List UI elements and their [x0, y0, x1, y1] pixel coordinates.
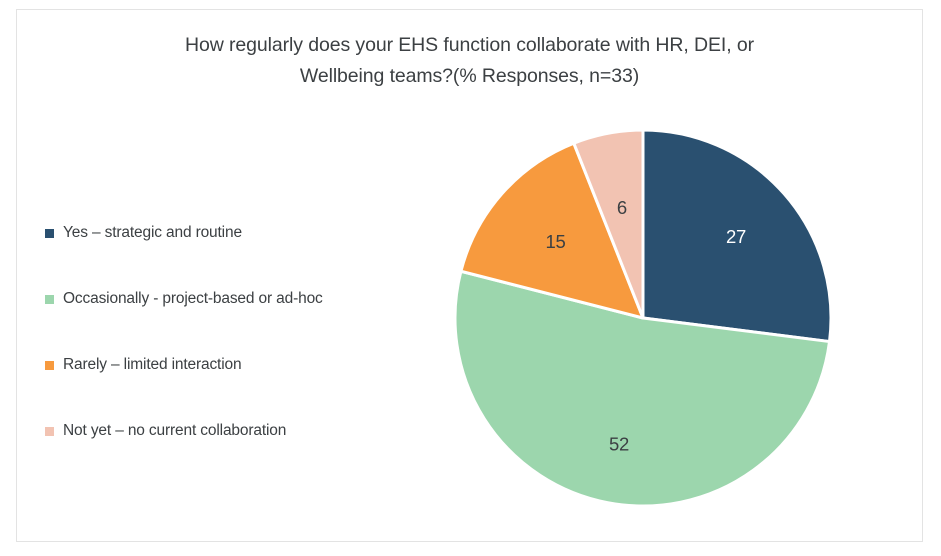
legend-label-2: Rarely – limited interaction	[63, 356, 241, 374]
pie-data-label-2: 15	[545, 231, 565, 252]
legend-label-1: Occasionally - project-based or ad-hoc	[63, 290, 323, 308]
pie-slices	[455, 130, 831, 506]
chart-container: How regularly does your EHS function col…	[16, 9, 923, 542]
legend-item-occasionally-project-based-or-ad-hoc[interactable]: Occasionally - project-based or ad-hoc	[45, 266, 405, 332]
chart-legend: Yes – strategic and routine Occasionally…	[45, 200, 405, 464]
pie-data-label-3: 6	[617, 197, 627, 218]
pie-data-label-0: 27	[726, 226, 746, 247]
legend-label-0: Yes – strategic and routine	[63, 224, 242, 242]
legend-label-3: Not yet – no current collaboration	[63, 422, 286, 440]
chart-title-line-1: How regularly does your EHS function col…	[185, 34, 754, 56]
pie-data-label-1: 52	[609, 434, 629, 455]
legend-swatch-icon-0	[45, 229, 54, 238]
pie-chart-svg: 27 52 15 6	[455, 118, 855, 518]
legend-item-yes-strategic-and-routine[interactable]: Yes – strategic and routine	[45, 200, 405, 266]
legend-item-rarely-limited-interaction[interactable]: Rarely – limited interaction	[45, 332, 405, 398]
chart-title-line-2: Wellbeing teams?(% Responses, n=33)	[300, 65, 639, 87]
legend-item-not-yet-no-current-collaboration[interactable]: Not yet – no current collaboration	[45, 398, 405, 464]
legend-swatch-icon-2	[45, 361, 54, 370]
chart-title: How regularly does your EHS function col…	[17, 30, 922, 92]
pie-chart: 27 52 15 6	[455, 118, 855, 518]
legend-swatch-icon-1	[45, 295, 54, 304]
legend-swatch-icon-3	[45, 427, 54, 436]
